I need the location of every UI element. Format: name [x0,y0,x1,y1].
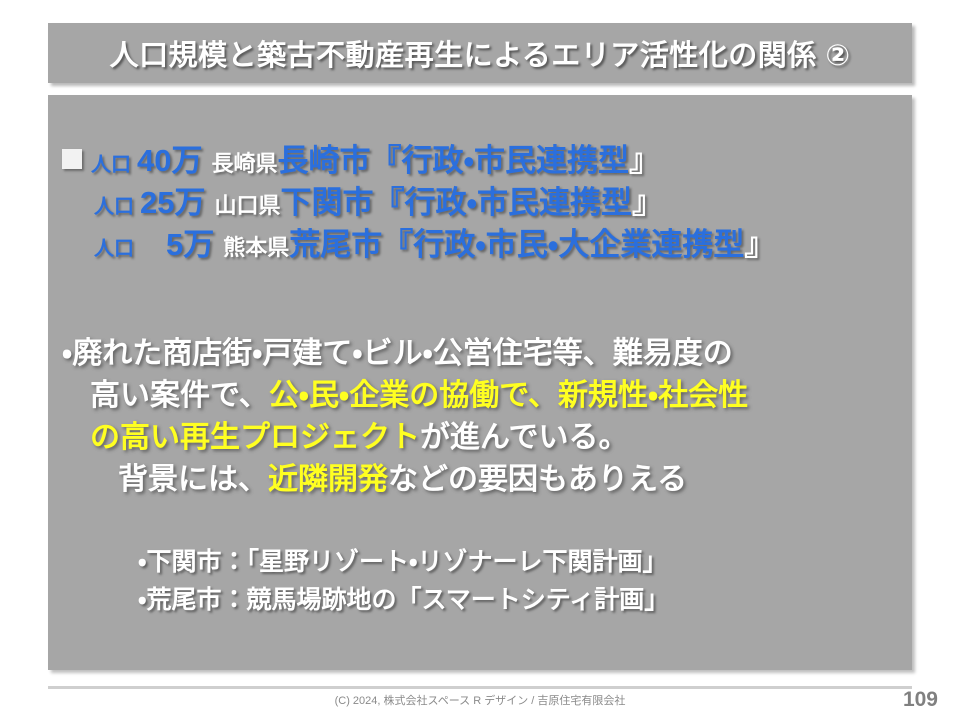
footer-divider [48,686,912,689]
body-line-3: の高い再生プロジェクトが進んでいる。 [62,423,912,453]
closing-bracket: 』 [632,187,663,218]
body-line-3-highlight: の高い再生プロジェクト [90,421,420,454]
list-item: 人口 25万 山口県 下関市『行政・市民連携型 』 [62,187,912,218]
population-value: 40万 [137,145,202,176]
footer-credit: (C) 2024, 株式会社スペース R デザイン / 吉原住宅有限会社 [0,692,960,708]
population-label: 人口 [94,197,134,217]
body-line-2-highlight: 公・民・企業の協働で、新規性・社会性 [269,379,748,412]
body-line-4-plain-start: 背景には、 [118,463,268,496]
prefecture-name: 山口県 [214,195,280,217]
list-item: 人口 5万 熊本県 荒尾市『行政・市民・大企業連携型 』 [62,229,912,260]
square-bullet-icon [62,149,82,169]
list-item: 人口 40万 長崎県 長崎市『行政・市民連携型 』 [62,145,912,176]
slide-root: 人口規模と築古不動産再生によるエリア活性化の関係 ② 人口 40万 長崎県 長崎… [0,0,960,720]
body-line-3-plain: が進んでいる。 [420,421,629,454]
list-item: ・荒尾市：競馬場跡地の「スマートシティ計画」 [138,588,898,613]
prefecture-name: 熊本県 [223,237,289,259]
sub-item-list: ・下関市：「星野リゾート・リゾナーレ下関計画」 ・荒尾市：競馬場跡地の「スマート… [138,550,898,626]
population-label: 人口 [94,239,134,259]
population-label: 人口 [91,155,131,175]
body-line-2: 高い案件で、公・民・企業の協働で、新規性・社会性 [62,381,912,411]
body-line-2-plain: 高い案件で、 [90,379,269,412]
body-line-4-plain-end: などの要因もありえる [388,463,687,496]
closing-bracket: 』 [744,229,775,260]
population-value: 5万 [166,229,214,260]
body-line-1: ・廃れた商店街・戸建て・ビル・公営住宅等、難易度の [62,339,912,369]
body-line-4: 背景には、近隣開発などの要因もありえる [62,465,912,495]
city-and-model-type: 荒尾市『行政・市民・大企業連携型 [289,229,744,260]
closing-bracket: 』 [629,145,660,176]
population-list: 人口 40万 長崎県 長崎市『行政・市民連携型 』 人口 25万 山口県 下関市… [62,145,912,271]
page-number: 109 [903,688,938,712]
city-and-model-type: 下関市『行政・市民連携型 [281,187,633,218]
prefecture-name: 長崎県 [211,153,277,175]
list-item: ・下関市：「星野リゾート・リゾナーレ下関計画」 [138,550,898,575]
body-paragraph: ・廃れた商店街・戸建て・ビル・公営住宅等、難易度の 高い案件で、公・民・企業の協… [62,339,912,507]
city-and-model-type: 長崎市『行政・市民連携型 [278,145,630,176]
slide-content-panel: 人口 40万 長崎県 長崎市『行政・市民連携型 』 人口 25万 山口県 下関市… [48,95,912,670]
body-line-4-highlight: 近隣開発 [268,463,388,496]
slide-title-bar: 人口規模と築古不動産再生によるエリア活性化の関係 ② [48,23,912,83]
page-title: 人口規模と築古不動産再生によるエリア活性化の関係 ② [110,32,851,74]
population-value: 25万 [140,187,205,218]
